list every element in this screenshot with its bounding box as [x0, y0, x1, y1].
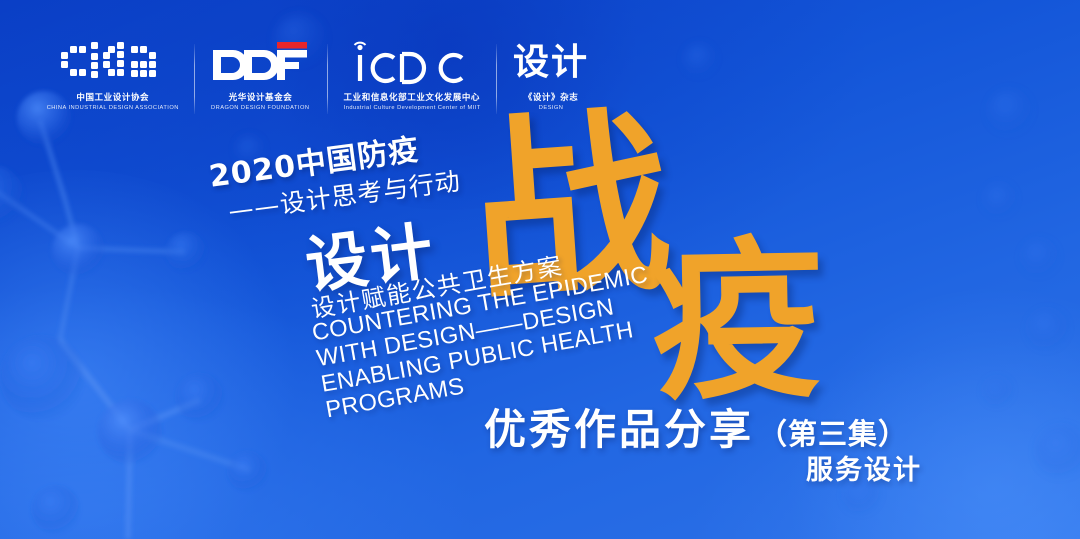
footer-category-label: 服务设计 [806, 448, 922, 487]
title-composition: 2020中国防疫 ——设计思考与行动 设计 战 疫 设计赋能公共卫生方案 COU… [0, 0, 1080, 539]
footer-share-title-text: 优秀作品分享 [484, 396, 754, 457]
brush-character-yi: 疫 [650, 235, 825, 410]
poster-canvas: 中国工业设计协会 CHINA INDUSTRIAL DESIGN ASSOCIA… [0, 0, 1080, 539]
footer-volume-label: （第三集） [758, 411, 908, 453]
